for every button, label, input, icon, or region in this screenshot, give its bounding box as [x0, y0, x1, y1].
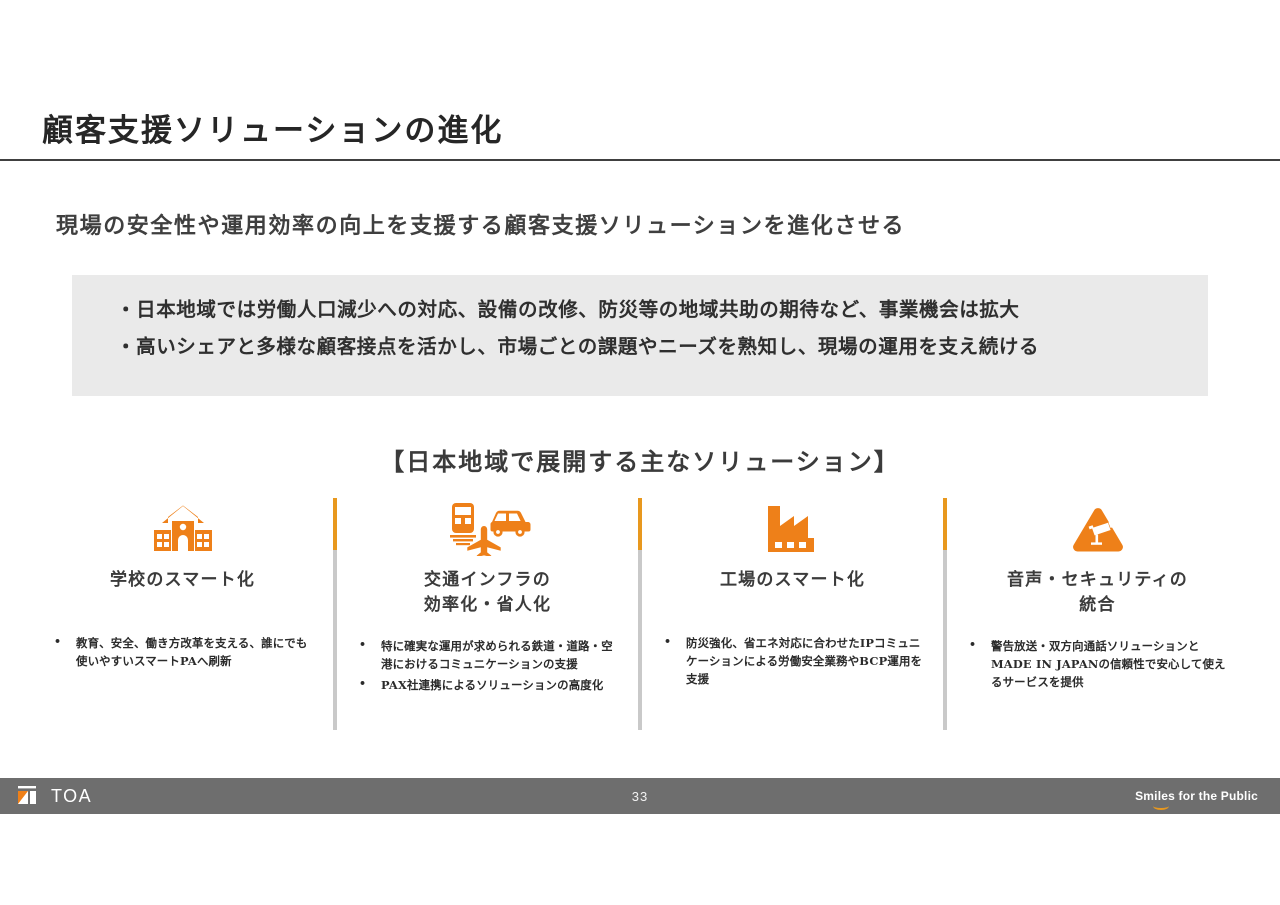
section-heading: 【日本地域で展開する主なソリューション】 — [0, 442, 1280, 477]
highlight-bullet-1: ・日本地域では労働人口減少への対応、設備の改修、防災等の地域共助の期待など、事業… — [116, 297, 1208, 323]
column-title-security-line2: 統合 — [1079, 595, 1115, 615]
solution-column-security: 音声・セキュリティの 統合 警告放送・双方向通話ソリューションとMADE IN … — [947, 498, 1248, 694]
footer-tagline-text: Smiles for the Public — [1135, 789, 1258, 803]
column-bullets-security: 警告放送・双方向通話ソリューションとMADE IN JAPANの信頼性で安心して… — [961, 637, 1234, 694]
column-title-security-line1: 音声・セキュリティの — [1007, 570, 1188, 590]
smile-arc-icon — [1153, 802, 1169, 810]
school-building-icon — [152, 498, 214, 556]
factory-icon — [764, 498, 822, 556]
title-block: 顧客支援ソリューションの進化 — [0, 112, 1280, 161]
column-title-transport: 交通インフラの 効率化・省人化 — [424, 568, 551, 617]
solution-column-school: 学校のスマート化 教育、安全、働き方改革を支える、誰にでも使いやすいスマートPA… — [32, 498, 333, 673]
lead-sentence: 現場の安全性や運用効率の向上を支援する顧客支援ソリューションを進化させる — [56, 208, 1176, 240]
column-title-school: 学校のスマート化 — [110, 568, 255, 614]
column-title-transport-line1: 交通インフラの — [424, 570, 551, 590]
column-bullets-factory: 防災強化、省エネ対応に合わせたIPコミュニケーションによる労働安全業務やBCP運… — [656, 634, 929, 691]
list-item: 防災強化、省エネ対応に合わせたIPコミュニケーションによる労働安全業務やBCP運… — [656, 634, 929, 688]
transport-train-car-plane-icon — [442, 498, 534, 556]
slide-canvas: 顧客支援ソリューションの進化 現場の安全性や運用効率の向上を支援する顧客支援ソリ… — [0, 0, 1280, 905]
column-title-transport-line2: 効率化・省人化 — [424, 595, 551, 615]
highlight-bullet-2: ・高いシェアと多様な顧客接点を活かし、市場ごとの課題やニーズを熟知し、現場の運用… — [116, 334, 1208, 360]
footer-tagline: Smiles for the Public — [1135, 789, 1258, 803]
security-camera-warning-icon — [1070, 498, 1126, 556]
list-item: 特に確実な運用が求められる鉄道・道路・空港におけるコミュニケーションの支援 — [351, 637, 624, 673]
footer-bar: TOA 33 Smiles for the Public — [0, 778, 1280, 814]
title-divider-rule — [0, 159, 1280, 161]
page-title: 顧客支援ソリューションの進化 — [0, 112, 1280, 157]
highlight-box: ・日本地域では労働人口減少への対応、設備の改修、防災等の地域共助の期待など、事業… — [72, 275, 1208, 396]
column-title-factory: 工場のスマート化 — [720, 568, 865, 614]
solution-column-transport: 交通インフラの 効率化・省人化 特に確実な運用が求められる鉄道・道路・空港におけ… — [337, 498, 638, 697]
column-bullets-school: 教育、安全、働き方改革を支える、誰にでも使いやすいスマートPAへ刷新 — [46, 634, 319, 673]
list-item: 教育、安全、働き方改革を支える、誰にでも使いやすいスマートPAへ刷新 — [46, 634, 319, 670]
solution-column-factory: 工場のスマート化 防災強化、省エネ対応に合わせたIPコミュニケーションによる労働… — [642, 498, 943, 691]
column-title-security: 音声・セキュリティの 統合 — [1007, 568, 1188, 617]
list-item: PAX社連携によるソリューションの高度化 — [351, 676, 624, 694]
column-bullets-transport: 特に確実な運用が求められる鉄道・道路・空港におけるコミュニケーションの支援 PA… — [351, 637, 624, 697]
page-number: 33 — [0, 789, 1280, 804]
solution-columns: 学校のスマート化 教育、安全、働き方改革を支える、誰にでも使いやすいスマートPA… — [32, 498, 1248, 734]
list-item: 警告放送・双方向通話ソリューションとMADE IN JAPANの信頼性で安心して… — [961, 637, 1234, 691]
